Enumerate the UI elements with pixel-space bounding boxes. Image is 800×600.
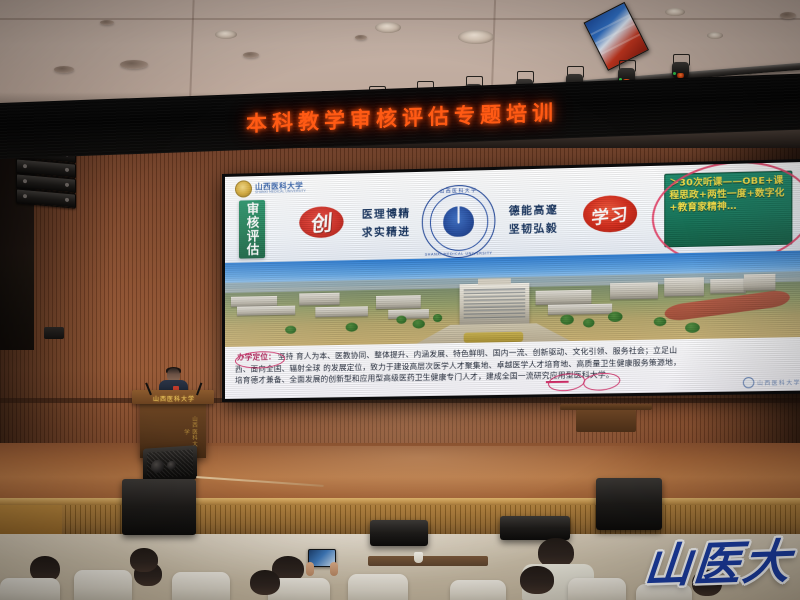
slide-header: 山西医科大学 SHANXI MEDICAL UNIVERSITY 审核评估 创 … [225, 162, 800, 263]
university-emblem-icon: 山西医科大学 SHANXI MEDICAL UNIVERSITY [422, 184, 496, 259]
university-seal-icon [235, 180, 252, 197]
red-seal-left-text: 创 [310, 206, 333, 238]
ceiling-light-icon [458, 30, 494, 44]
stage-speaker-right-2 [370, 520, 428, 546]
auditorium-seat [0, 578, 60, 600]
motto-right-line1: 德能高邃 [509, 201, 558, 221]
paper-cup [414, 552, 423, 563]
ceiling-vent-icon [355, 35, 367, 40]
main-presentation-screen: 山西医科大学 SHANXI MEDICAL UNIVERSITY 审核评估 创 … [222, 159, 800, 402]
stage-speaker-center [500, 516, 570, 540]
motto-right-line2: 坚韧弘毅 [509, 220, 558, 240]
ceiling-vent-icon [243, 52, 259, 58]
motto-right: 德能高邃 坚韧弘毅 [509, 201, 558, 239]
ceiling-vent-icon [54, 66, 74, 73]
slide: 山西医科大学 SHANXI MEDICAL UNIVERSITY 审核评估 创 … [225, 162, 800, 399]
audience-member [250, 570, 298, 600]
red-seal-left-icon: 创 [299, 206, 343, 238]
watermark: 山医大 [642, 522, 796, 596]
motto-left-line1: 医理博精 [362, 204, 411, 224]
main-campus-building [460, 283, 530, 325]
review-evaluation-label: 审核评估 [243, 202, 262, 257]
footer-text: 山西医科大学 [757, 378, 800, 387]
auditorium-seat [568, 578, 626, 600]
wall-speaker [44, 327, 64, 339]
ceiling-vent-icon [780, 12, 796, 19]
subwoofer-box [122, 479, 196, 535]
audience-front-rail [368, 556, 488, 566]
motto-left: 医理博精 求实精进 [362, 204, 411, 242]
podium-nameplate: 山西医科大学 [146, 394, 202, 403]
handwritten-strike [546, 375, 567, 390]
review-evaluation-badge: 审核评估 [239, 200, 265, 259]
auditorium-seat [348, 574, 408, 600]
hand [306, 562, 314, 576]
lecture-hall-photo: 本科教学审核评估专题培训 山西医科大学 SHANXI MEDICAL UNIVE… [0, 0, 800, 600]
annotation-callout-text: ＞30次听课——OBE+课程思政+两性一度+数字化+教育家精神… [669, 175, 787, 214]
audience-member [512, 566, 572, 600]
slide-body-text: 办学定位：坚持 育人为本、医教协同、整体提升、内涵发展、特色鲜明、国内一流、创新… [225, 337, 800, 399]
annotation-callout: ＞30次听课——OBE+课程思政+两性一度+数字化+教育家精神… [664, 171, 792, 248]
emblem-bottom-text: SHANXI MEDICAL UNIVERSITY [423, 251, 495, 257]
audience-member [130, 548, 170, 582]
slide-footer: 山西医科大学 [742, 376, 800, 388]
hand [330, 562, 338, 576]
university-logo: 山西医科大学 SHANXI MEDICAL UNIVERSITY [235, 179, 306, 198]
ceiling-light-icon [215, 30, 237, 39]
auditorium-seat [172, 572, 230, 600]
university-name-en: SHANXI MEDICAL UNIVERSITY [255, 190, 306, 195]
ceiling-light-icon [707, 32, 723, 39]
ceiling-light-icon [375, 22, 401, 33]
ceiling-light-icon [665, 8, 685, 16]
campus-aerial-photo [225, 250, 800, 346]
stage-speaker-right [596, 478, 662, 530]
stage-monitor-speaker [143, 445, 197, 483]
ceiling-vent-icon [100, 20, 114, 25]
stage-table [576, 410, 636, 432]
auditorium-seat [450, 580, 506, 600]
study-seal-text: 学习 [591, 199, 629, 229]
stage-light-icon [672, 54, 689, 79]
footer-seal-icon [742, 377, 754, 388]
motto-left-line2: 求实精进 [362, 223, 411, 243]
ceiling-vent-icon [120, 60, 148, 69]
study-seal-icon: 学习 [583, 195, 637, 233]
auditorium-seat [74, 570, 132, 600]
